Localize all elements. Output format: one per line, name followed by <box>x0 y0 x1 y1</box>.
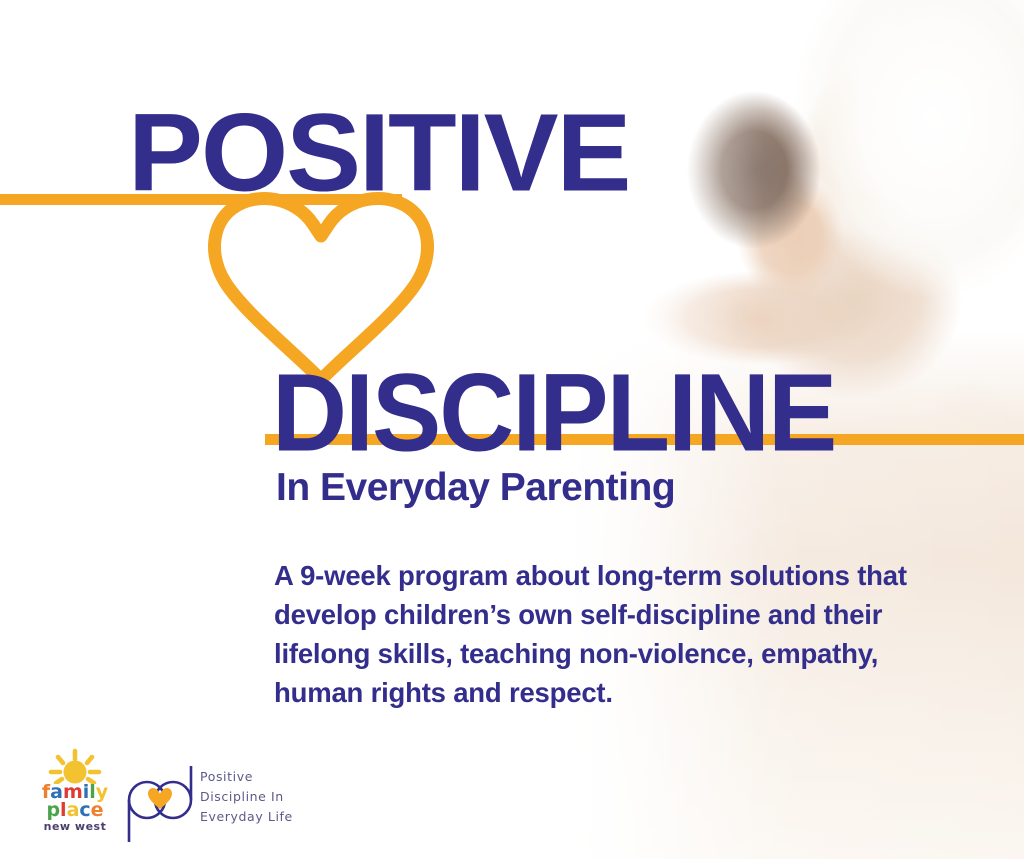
body-copy-line: A 9-week program about long-term solutio… <box>274 556 984 595</box>
positive-discipline-logo: Positive Discipline In Everyday Life <box>120 762 300 844</box>
pd-wordmark-line: Everyday Life <box>200 807 293 827</box>
pd-wordmark-line: Discipline In <box>200 787 293 807</box>
positive-discipline-wordmark: Positive Discipline In Everyday Life <box>200 767 293 827</box>
family-place-letter: e <box>91 799 104 821</box>
family-place-letter: p <box>46 799 60 821</box>
family-place-letter: a <box>67 799 80 821</box>
family-place-tagline: new west <box>22 820 128 833</box>
pd-monogram-icon <box>120 762 198 844</box>
poster-canvas: POSITIVE DISCIPLINE In Everyday Parentin… <box>0 0 1024 859</box>
body-copy: A 9-week program about long-term solutio… <box>274 556 984 712</box>
body-copy-line: develop children’s own self-discipline a… <box>274 595 984 634</box>
headline-discipline: DISCIPLINE <box>272 358 835 468</box>
family-place-logo: family place new west <box>22 748 128 848</box>
sun-icon <box>22 748 128 784</box>
body-copy-line: human rights and respect. <box>274 673 984 712</box>
family-place-letter: c <box>79 799 90 821</box>
heart-filled-icon <box>148 788 172 809</box>
pd-wordmark-line: Positive <box>200 767 293 787</box>
subtitle: In Everyday Parenting <box>276 466 675 510</box>
body-copy-line: lifelong skills, teaching non-violence, … <box>274 634 984 673</box>
family-place-word-place: place <box>22 799 128 821</box>
